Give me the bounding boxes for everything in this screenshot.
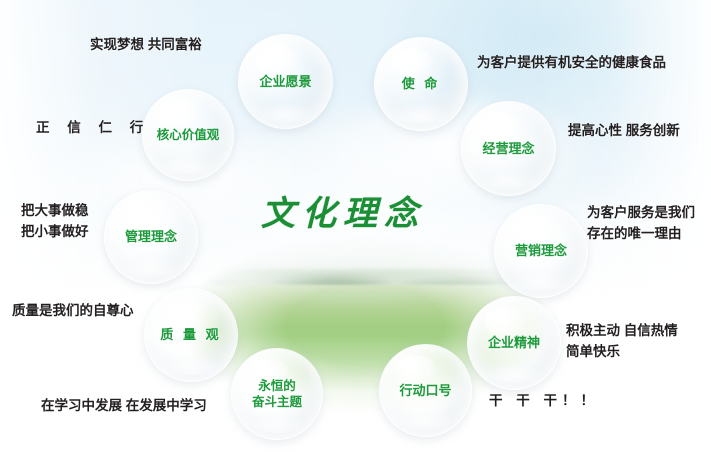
bubble-label-core-values: 核心价值观: [157, 127, 220, 143]
bubble-mission[interactable]: 使 命: [374, 37, 468, 131]
caption-operating-text: 提高心性 服务创新: [568, 120, 711, 141]
bubble-label-eternal-theme: 永恒的 奋斗主题: [252, 378, 302, 410]
bubble-corporate-spirit[interactable]: 企业精神: [467, 296, 561, 390]
bubble-management-concept[interactable]: 管理理念: [104, 190, 198, 284]
culture-concept-poster: 文化理念 实现梦想 共同富裕 为客户提供有机安全的健康食品 正 信 仁 行 提高…: [0, 0, 711, 452]
page-title: 文化理念: [243, 186, 443, 235]
caption-spirit-text: 积极主动 自信热情 简单快乐: [566, 320, 711, 362]
bubble-eternal-theme[interactable]: 永恒的 奋斗主题: [231, 348, 323, 440]
caption-quality-text: 质量是我们的自尊心: [12, 300, 162, 321]
bubble-label-quality-view: 质 量 观: [160, 327, 221, 343]
caption-marketing-text: 为客户服务是我们 存在的唯一理由: [587, 202, 711, 244]
bubble-label-management-concept: 管理理念: [125, 229, 177, 245]
bubble-label-operating-principle: 经营理念: [482, 141, 534, 157]
bubble-action-slogan[interactable]: 行动口号: [379, 344, 472, 437]
caption-mission-text: 为客户提供有机安全的健康食品: [477, 52, 709, 73]
caption-vision-text: 实现梦想 共同富裕: [90, 34, 270, 55]
bubble-quality-view[interactable]: 质 量 观: [144, 288, 238, 382]
caption-slogan-text: 干 干 干！！: [489, 390, 599, 411]
bubble-operating-principle[interactable]: 经营理念: [461, 101, 556, 196]
bubble-label-action-slogan: 行动口号: [399, 383, 451, 399]
bubble-label-marketing-concept: 营销理念: [515, 243, 567, 259]
caption-eternal-text: 在学习中发展 在发展中学习: [41, 395, 216, 416]
bubble-label-mission: 使 命: [402, 76, 441, 92]
bubble-marketing-concept[interactable]: 营销理念: [494, 204, 588, 298]
bubble-core-values[interactable]: 核心价值观: [142, 89, 234, 181]
bubble-label-corporate-vision: 企业愿景: [259, 74, 311, 90]
bubble-corporate-vision[interactable]: 企业愿景: [238, 34, 333, 129]
bubble-label-corporate-spirit: 企业精神: [488, 335, 540, 351]
